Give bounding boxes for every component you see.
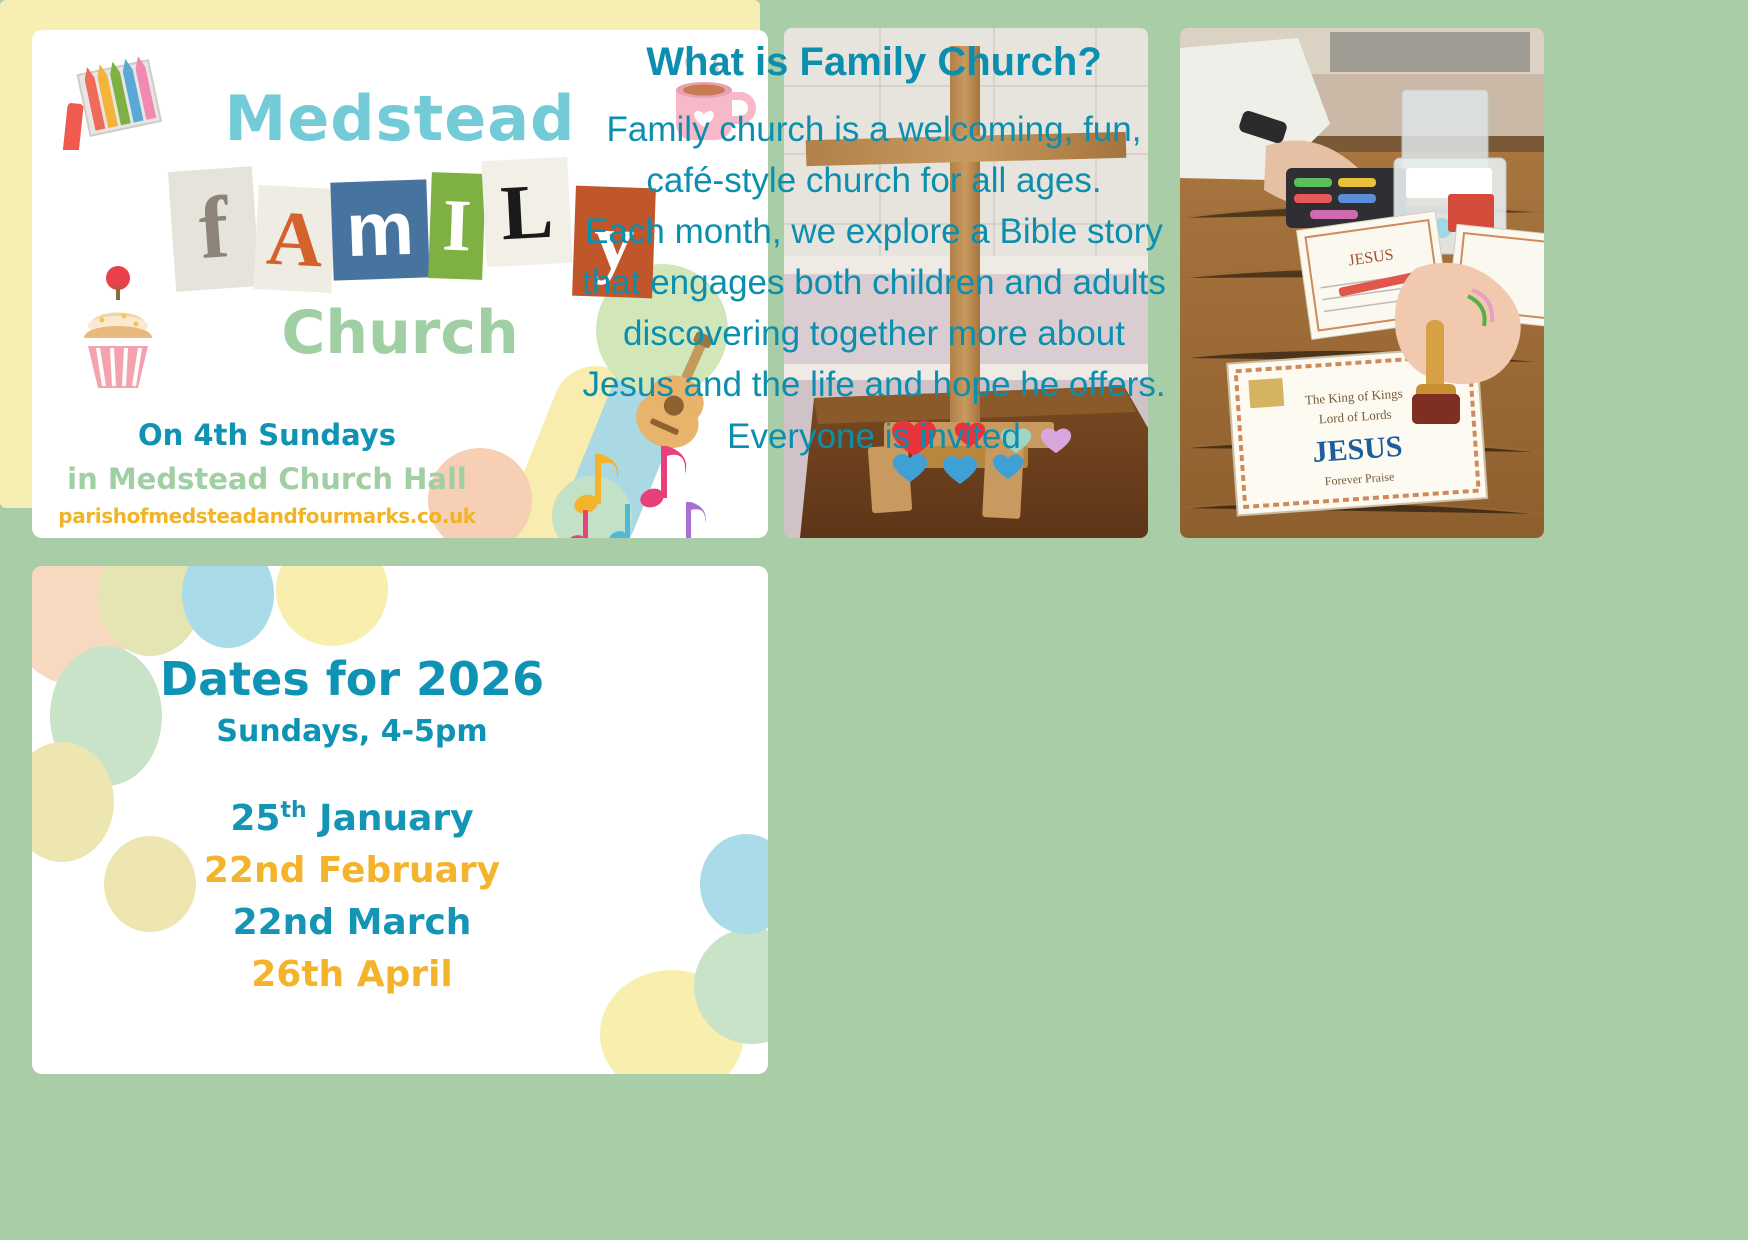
date-day: 22nd xyxy=(204,850,306,891)
date-row: 26th April xyxy=(92,954,612,995)
date-day: 26th xyxy=(251,954,344,995)
date-month: February xyxy=(305,850,500,891)
date-month: March xyxy=(334,902,471,943)
date-row: 22nd February xyxy=(92,850,612,891)
dates-card: Dates for 2026 Sundays, 4-5pm 25th Janua… xyxy=(32,566,768,1074)
brand-website-url[interactable]: parishofmedsteadandfourmarks.co.uk xyxy=(32,504,502,528)
date-row: 22nd March xyxy=(92,902,612,943)
info-card: What is Family Church? Family church is … xyxy=(0,0,760,508)
date-row: 25th January xyxy=(92,798,612,839)
date-month: April xyxy=(344,954,453,995)
dates-subtitle: Sundays, 4-5pm xyxy=(92,714,612,749)
poster-root: Medstead f A m I L y Church On 4th Sunda… xyxy=(0,0,1748,1240)
date-suffix: th xyxy=(280,798,306,823)
info-title: What is Family Church? xyxy=(0,40,1748,85)
brand-venue-line: in Medstead Church Hall xyxy=(32,462,502,496)
date-month: January xyxy=(307,798,474,839)
date-day: 22nd xyxy=(233,902,335,943)
info-body-text: Family church is a welcoming, fun, café-… xyxy=(14,104,1734,462)
date-day: 25 xyxy=(230,798,280,839)
dates-title: Dates for 2026 xyxy=(92,652,612,706)
